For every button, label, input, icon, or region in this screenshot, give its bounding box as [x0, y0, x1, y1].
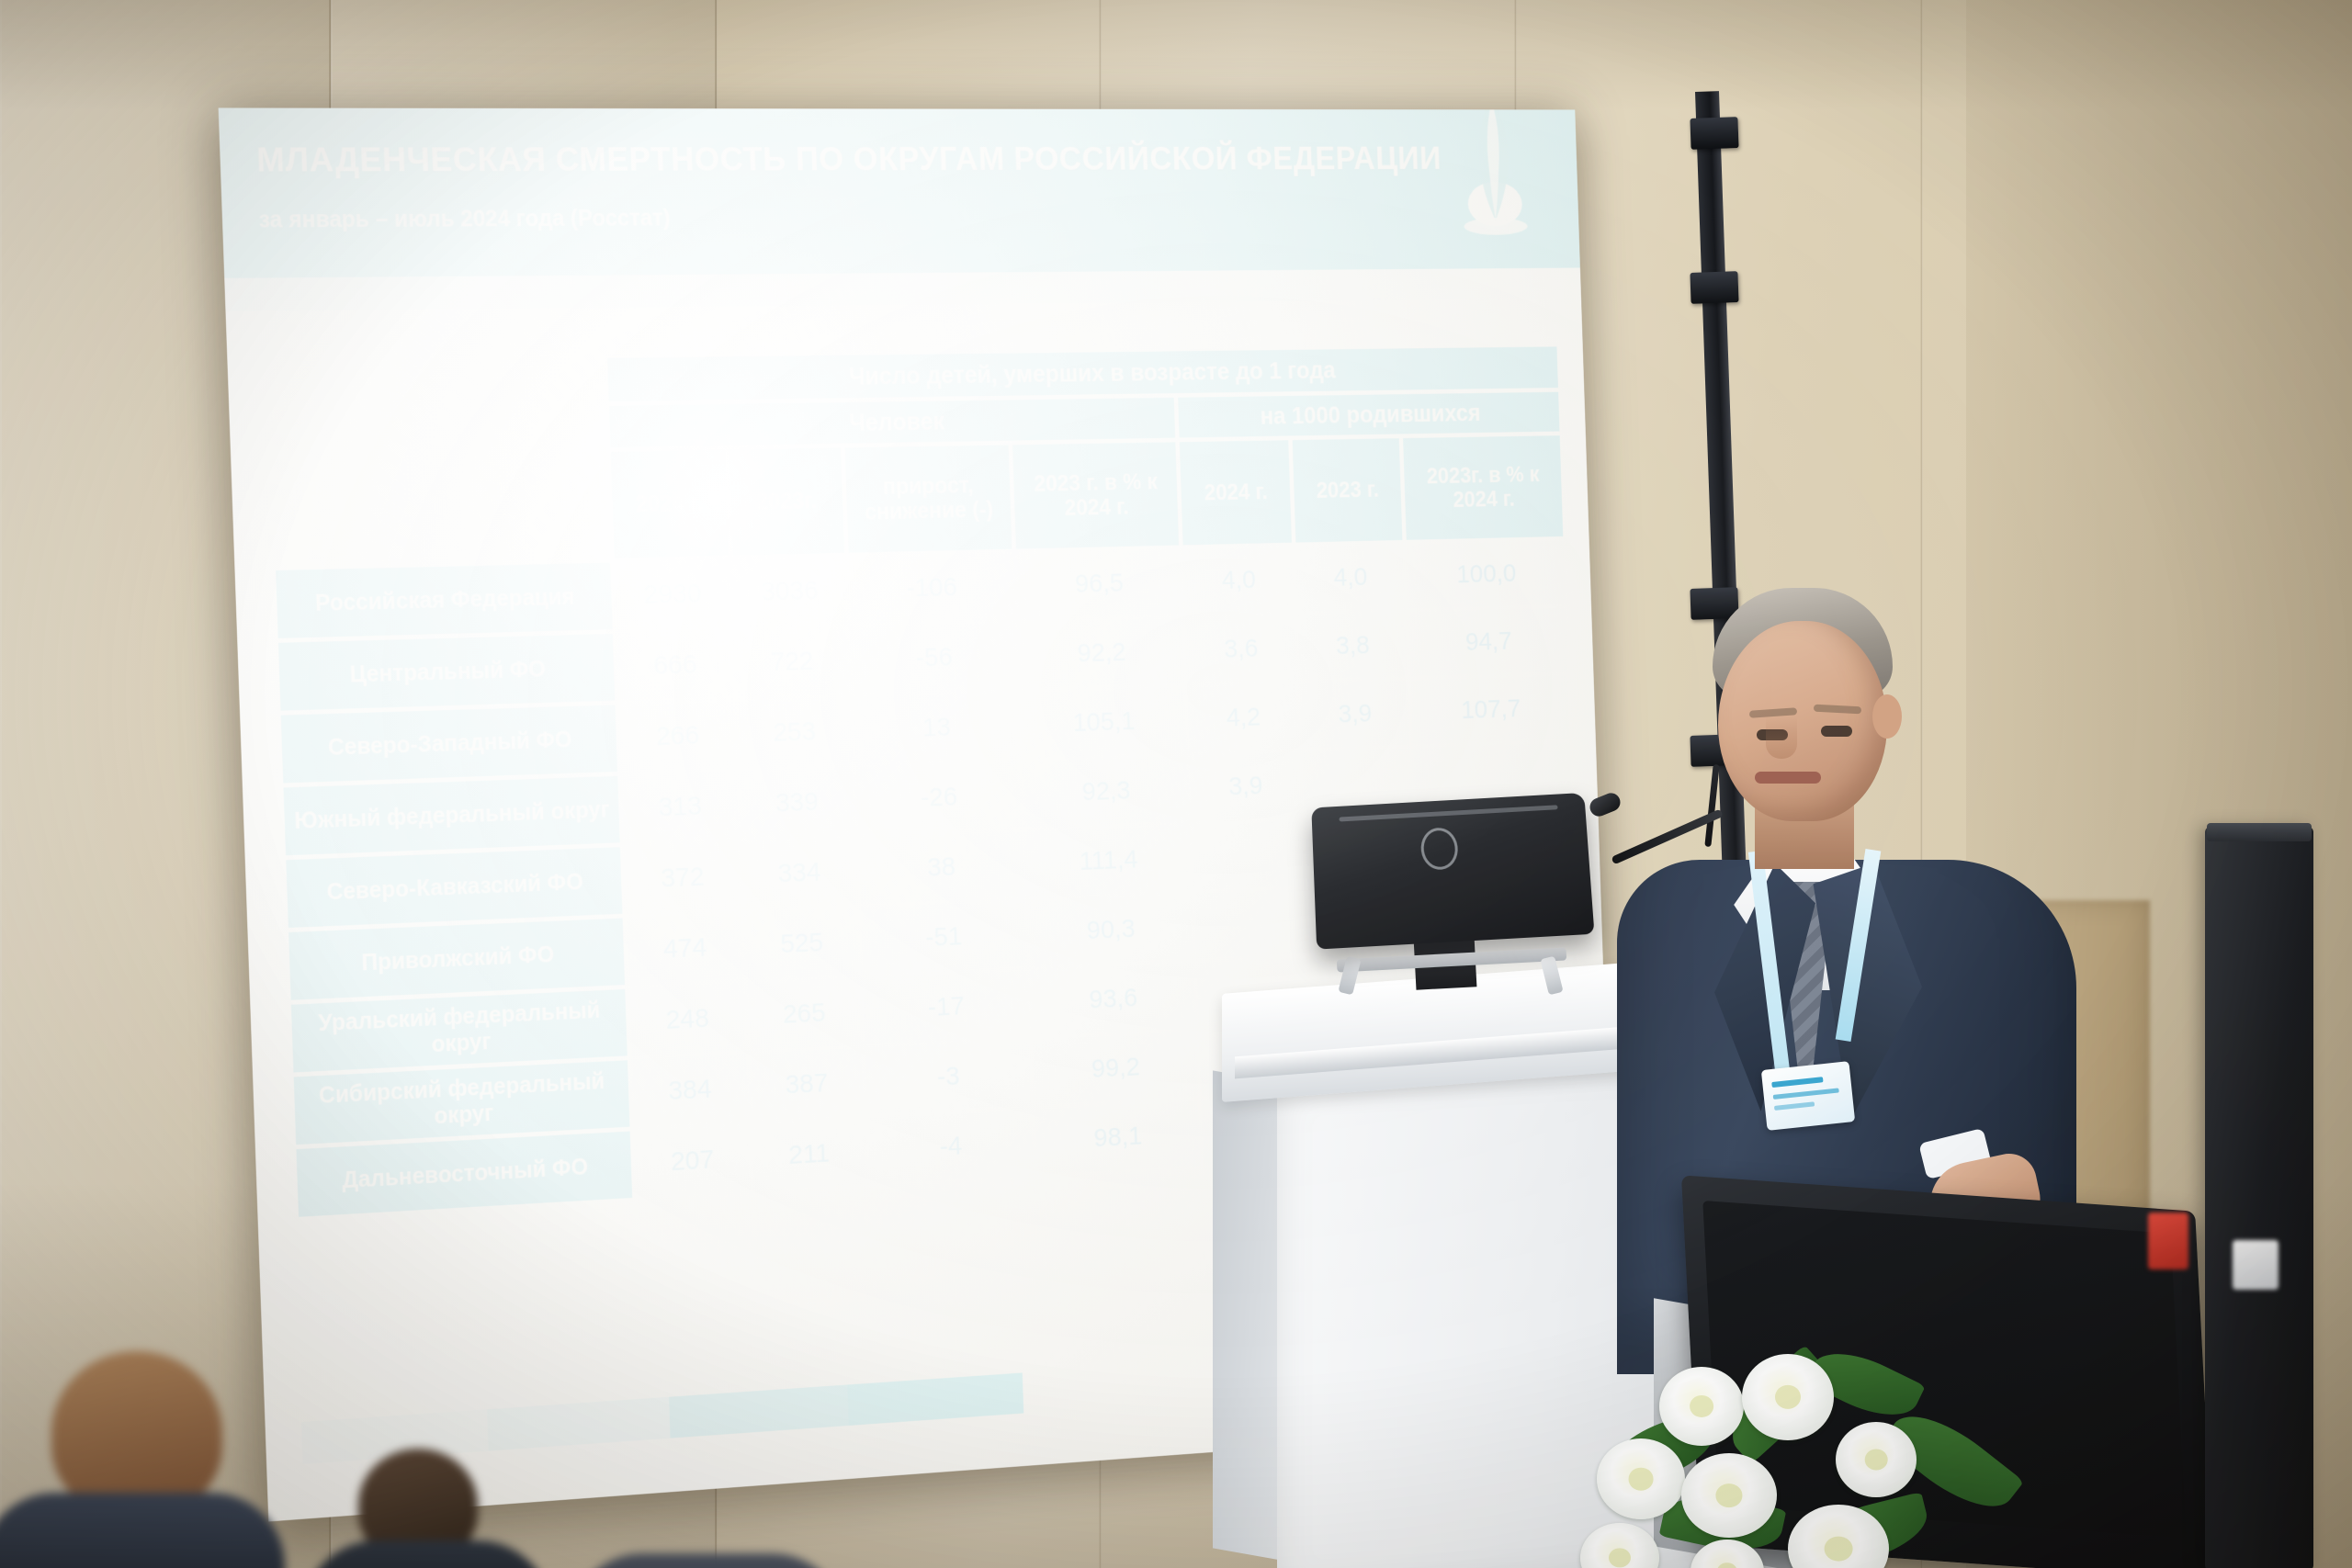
- wall-sign: [2233, 1240, 2278, 1290]
- screen-clamp: [1690, 117, 1738, 150]
- slide-header-bar: МЛАДЕНЧЕСКАЯ СМЕРТНОСТЬ ПО ОКРУГАМ РОССИ…: [219, 107, 1580, 277]
- cell-change: -106: [849, 553, 1014, 623]
- cell-persons-2023: 339: [740, 768, 854, 838]
- flower: [1580, 1523, 1659, 1568]
- screen-clamp: [1690, 271, 1738, 304]
- cell-rate-2023: 4,0: [1295, 545, 1405, 612]
- cell-persons-2024: 474: [628, 913, 743, 985]
- row-label: Северо-Кавказский ФО: [286, 847, 622, 928]
- cell-pct: 92,2: [1019, 618, 1184, 688]
- monitor-vent: [1339, 805, 1557, 821]
- group-header-rate: на 1000 родившихся: [1179, 392, 1560, 438]
- cell-change: -3: [865, 1040, 1031, 1113]
- audience: [0, 1329, 827, 1568]
- cell-rate-2023: 3,9: [1300, 681, 1409, 748]
- speaker-mouth: [1755, 772, 1821, 784]
- cell-change: -26: [856, 762, 1022, 834]
- flower: [1742, 1354, 1834, 1440]
- group-header-persons: Человек: [609, 398, 1175, 447]
- row-label: Дальневосточный ФО: [296, 1132, 632, 1217]
- row-label: Центральный ФО: [278, 634, 616, 711]
- row-label: Южный федеральный округ: [283, 776, 619, 855]
- ministry-emblem-icon: [1439, 107, 1547, 238]
- eye-right: [1821, 726, 1852, 737]
- cell-change: -51: [861, 901, 1026, 974]
- cell-rate-2024: 4,0: [1183, 547, 1294, 614]
- cell-persons-2024: 313: [622, 772, 738, 842]
- badge-line: [1774, 1101, 1815, 1111]
- col-rate-2023: 2023 г.: [1293, 438, 1403, 542]
- cell-rate-2024: 3,6: [1186, 615, 1296, 682]
- cell-persons-2023: 3036: [732, 558, 846, 626]
- col-persons-2024: 2024 г.: [611, 450, 728, 558]
- cell-change: -17: [863, 971, 1028, 1044]
- flower: [1836, 1422, 1917, 1497]
- cell-pct: 92,3: [1023, 756, 1189, 827]
- cell-persons-2023: 387: [750, 1049, 864, 1121]
- cell-change: -4: [868, 1110, 1034, 1184]
- cell-pct: 105,1: [1021, 687, 1186, 757]
- speaker-head: [1718, 621, 1887, 821]
- cell-persons-2024: 372: [625, 842, 741, 913]
- slide-title: МЛАДЕНЧЕСКАЯ СМЕРТНОСТЬ ПО ОКРУГАМ РОССИ…: [256, 141, 1442, 180]
- cell-persons-2023: 253: [738, 698, 852, 768]
- flower: [1597, 1438, 1685, 1519]
- cell-persons-2024: 384: [632, 1055, 748, 1127]
- cell-pct: 93,6: [1031, 963, 1196, 1035]
- cell-rate-pct: 107,7: [1411, 675, 1569, 744]
- cell-persons-2023: 722: [735, 627, 849, 696]
- cell-rate-2024: 3,9: [1191, 752, 1301, 820]
- speaker-column: [2205, 827, 2313, 1568]
- cell-persons-2024: 266: [620, 702, 736, 772]
- row-label: Российская Федерация: [276, 563, 613, 638]
- cell-pct: 111,4: [1025, 825, 1191, 897]
- row-label: Приволжский ФО: [288, 919, 625, 1000]
- eyebrow-right: [1814, 705, 1861, 715]
- cell-pct: 98,1: [1035, 1100, 1201, 1174]
- audience-body: [303, 1540, 551, 1568]
- cell-change: -56: [851, 623, 1016, 693]
- cell-persons-2023: 265: [747, 978, 861, 1050]
- col-rate-pct: 2023г. в % к 2024 г.: [1403, 435, 1563, 540]
- cell-pct: 99,2: [1033, 1032, 1198, 1105]
- flower-bouquet: [1580, 1323, 2058, 1568]
- cell-persons-2023: 211: [752, 1119, 865, 1190]
- podium-monitor: [1311, 793, 1594, 950]
- conference-badge: [1761, 1061, 1855, 1131]
- flower: [1681, 1453, 1777, 1538]
- badge-line: [1771, 1077, 1823, 1088]
- cell-change: 38: [858, 831, 1023, 903]
- cell-persons-2024: 248: [629, 984, 745, 1055]
- corner-cell: [268, 358, 610, 566]
- speaker-ear: [1872, 694, 1902, 739]
- cell-persons-2024: 666: [617, 631, 733, 701]
- cell-rate-2024: [1193, 821, 1303, 890]
- badge-line: [1773, 1088, 1839, 1099]
- cell-persons-2023: 525: [745, 908, 859, 979]
- row-label: Сибирский федеральный округ: [294, 1060, 630, 1145]
- audience-body: [570, 1553, 845, 1568]
- cell-rate-2023: 3,8: [1298, 613, 1408, 680]
- row-label: Северо-Западный ФО: [281, 705, 618, 783]
- cell-rate-pct: 100,0: [1407, 541, 1565, 608]
- col-rate-2024: 2024 г.: [1180, 440, 1292, 545]
- cell-rate-2024: [1195, 889, 1306, 958]
- cell-persons-2023: 334: [742, 838, 856, 908]
- cell-rate-2024: 4,2: [1188, 684, 1298, 752]
- row-label: Уральский федеральный округ: [291, 989, 628, 1073]
- cell-persons-2024: 2930: [615, 560, 730, 629]
- audience-head: [51, 1351, 222, 1515]
- cell-pct: 96,5: [1016, 549, 1182, 618]
- speaker-column-top: [2207, 823, 2312, 841]
- flower: [1659, 1367, 1744, 1446]
- speaker-nose: [1766, 716, 1797, 759]
- stand-bar: [1337, 947, 1566, 972]
- col-pct: 2023 г. в % к 2024 г.: [1012, 442, 1179, 548]
- footer-swatch-4: [847, 1372, 1023, 1425]
- cell-persons-2024: 207: [635, 1125, 751, 1198]
- col-persons-2023: 2023г.: [729, 448, 844, 556]
- cell-pct: 90,3: [1028, 894, 1193, 965]
- fire-alarm-icon: [2148, 1213, 2188, 1269]
- audience-body: [0, 1493, 285, 1568]
- col-change: прирост, снижение (-): [845, 445, 1012, 552]
- cell-rate-pct: 94,7: [1409, 608, 1567, 676]
- photograph: МЛАДЕНЧЕСКАЯ СМЕРТНОСТЬ ПО ОКРУГАМ РОССИ…: [0, 0, 2352, 1568]
- slide-subtitle: за январь – июль 2024 года (Росстат): [258, 206, 671, 234]
- cell-change: 13: [854, 693, 1019, 763]
